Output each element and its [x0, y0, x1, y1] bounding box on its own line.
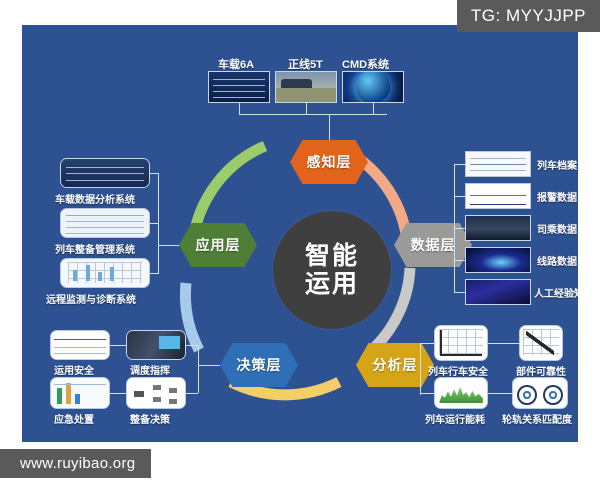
alarm-waveform-thumbnail[interactable] — [465, 183, 531, 209]
data-item-3-label: 线路数据 — [537, 253, 577, 268]
wheel-rail-thumbnail[interactable] — [512, 377, 568, 409]
analysis-item-0-label: 列车行车安全 — [428, 363, 488, 378]
maintenance-table-screenshot[interactable] — [60, 208, 150, 238]
node-analysis[interactable]: 分析层 — [356, 343, 434, 387]
driver-cab-thumbnail[interactable] — [465, 215, 531, 241]
application-item-2-label: 远程监测与诊断系统 — [46, 291, 136, 306]
decision-node-line — [198, 365, 220, 366]
flow-diagram-thumbnail[interactable] — [126, 377, 186, 409]
route-map-thumbnail[interactable] — [465, 247, 531, 273]
analysis-item-2-label: 列车运行能耗 — [425, 411, 485, 426]
analysis-stub-1 — [420, 393, 434, 394]
data-item-2-label: 司乘数据 — [537, 221, 577, 236]
data-item-0-label: 列车档案 — [537, 157, 577, 172]
analysis-item-3-label: 轮轨关系匹配度 — [502, 411, 572, 426]
decision-stub-0 — [186, 345, 198, 346]
node-decision[interactable]: 决策层 — [220, 343, 298, 387]
screenshot-canvas: 智能 运用 感知层 数据层 分析层 决策层 应用层 车载6A 正线5T CMD系… — [0, 0, 600, 480]
data-stub-0 — [454, 164, 465, 165]
perception-item-0-label: 车载6A — [218, 56, 254, 72]
train-schedule-thumbnail[interactable] — [50, 330, 110, 360]
data-item-1-label: 报警数据 — [537, 189, 577, 204]
application-stub-0 — [150, 173, 158, 174]
data-item-4-label: 人工经验知识库 — [534, 285, 578, 300]
node-perception[interactable]: 感知层 — [290, 140, 368, 184]
decision-item-0-label: 运用安全 — [54, 362, 94, 377]
node-application[interactable]: 应用层 — [179, 223, 257, 267]
tg-tag-overlay: TG: MYYJJPP — [457, 0, 600, 32]
onboard-analysis-screenshot[interactable] — [60, 158, 150, 188]
application-bus-line — [158, 173, 159, 274]
center-line-2: 运用 — [305, 270, 359, 298]
open-book-thumbnail[interactable] — [465, 279, 531, 305]
decision-stub-1 — [186, 393, 198, 394]
node-data-label: 数据层 — [411, 235, 456, 255]
node-perception-label: 感知层 — [307, 152, 352, 172]
node-analysis-label: 分析层 — [373, 355, 418, 375]
scatter-chart-thumbnail[interactable] — [519, 325, 563, 361]
decision-bus-line — [198, 345, 199, 393]
decision-stub-3 — [110, 393, 126, 394]
perception-drop-1 — [306, 103, 307, 114]
diagram-panel: 智能 运用 感知层 数据层 分析层 决策层 应用层 车载6A 正线5T CMD系… — [22, 25, 578, 442]
perception-item-1-label: 正线5T — [288, 56, 323, 72]
perception-item-2-label: CMD系统 — [342, 56, 389, 72]
node-application-label: 应用层 — [196, 235, 241, 255]
trackside-train-thumbnail[interactable] — [275, 71, 337, 103]
remote-monitor-screenshot[interactable] — [60, 258, 150, 288]
area-chart-thumbnail[interactable] — [434, 377, 488, 409]
perception-node-line — [329, 114, 330, 140]
decision-item-1-label: 调度指挥 — [130, 362, 170, 377]
perception-drop-2 — [373, 103, 374, 114]
train-console-thumbnail[interactable] — [208, 71, 270, 103]
perception-bus-line — [239, 114, 387, 115]
node-decision-label: 决策层 — [237, 355, 282, 375]
decision-item-2-label: 应急处置 — [54, 411, 94, 426]
data-stub-3 — [454, 260, 465, 261]
globe-network-thumbnail[interactable] — [342, 71, 404, 103]
dashboard-thumbnail[interactable] — [50, 377, 110, 409]
center-line-1: 智能 — [305, 242, 359, 270]
analysis-bus-line — [420, 343, 421, 395]
curve-chart-thumbnail[interactable] — [434, 325, 488, 361]
data-stub-4 — [454, 292, 465, 293]
application-item-0-label: 车载数据分析系统 — [55, 191, 135, 206]
application-item-1-label: 列车整备管理系统 — [55, 241, 135, 256]
train-roster-thumbnail[interactable] — [465, 151, 531, 177]
center-hub: 智能 运用 — [273, 211, 391, 329]
application-node-line — [158, 245, 179, 246]
analysis-stub-2 — [488, 343, 519, 344]
analysis-stub-0 — [420, 343, 434, 344]
application-stub-1 — [150, 223, 158, 224]
analysis-item-1-label: 部件可靠性 — [516, 363, 566, 378]
site-watermark: www.ruyibao.org — [0, 449, 151, 478]
decision-item-3-label: 整备决策 — [130, 411, 170, 426]
decision-stub-2 — [110, 345, 126, 346]
data-stub-1 — [454, 196, 465, 197]
analysis-stub-3 — [488, 393, 512, 394]
perception-drop-0 — [239, 103, 240, 114]
data-stub-2 — [454, 228, 465, 229]
arc-decision-application — [185, 283, 199, 350]
dispatch-desk-thumbnail[interactable] — [126, 330, 186, 360]
application-stub-2 — [150, 273, 158, 274]
